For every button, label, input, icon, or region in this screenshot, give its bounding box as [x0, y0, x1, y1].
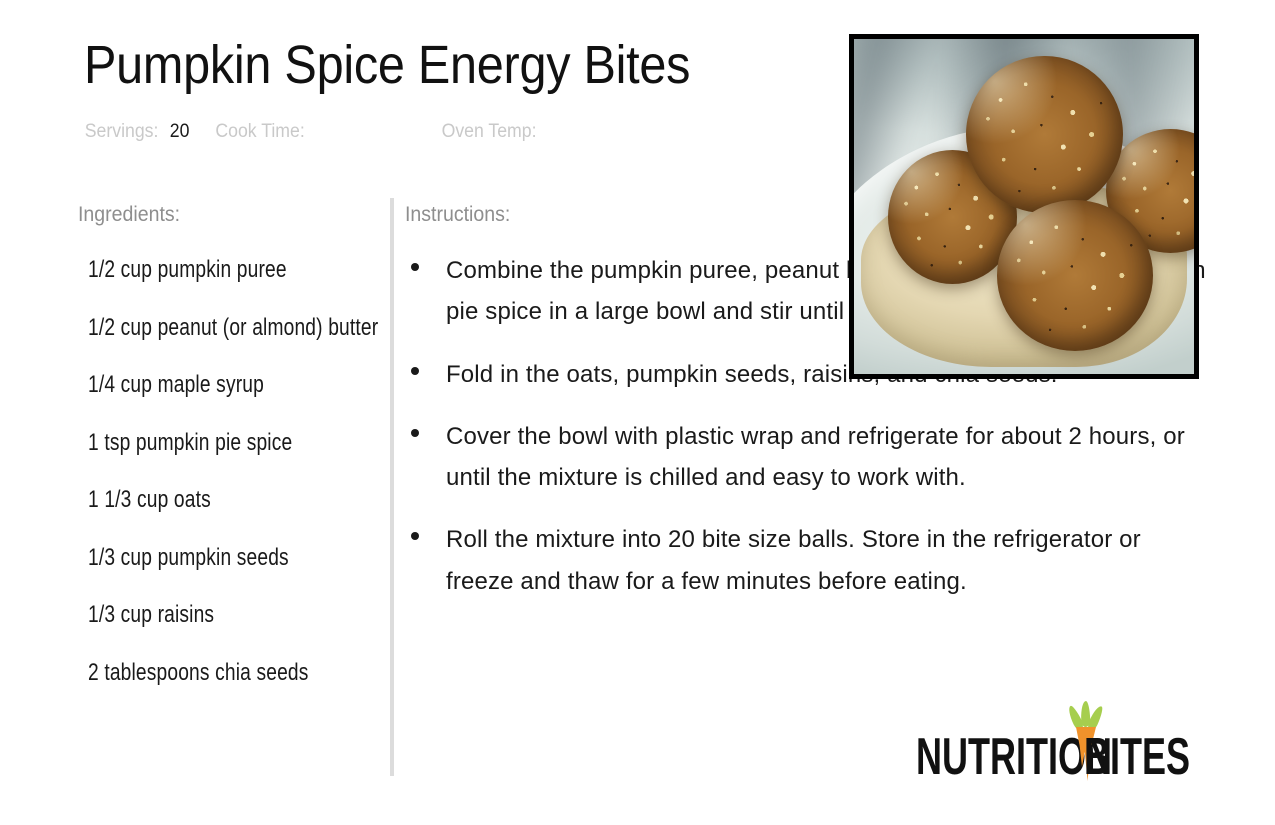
nutrition-bites-logo: NUTRITION BITES [916, 698, 1206, 782]
photo-background [854, 39, 1194, 374]
energy-bite-top [966, 56, 1122, 213]
servings-value: 20 [170, 121, 190, 143]
ingredient-item: 1 tsp pumpkin pie spice [88, 425, 383, 461]
ingredient-item: 1/2 cup pumpkin puree [88, 252, 383, 288]
ingredient-item: 2 tablespoons chia seeds [88, 655, 383, 691]
bullet-icon [411, 429, 419, 437]
servings-group: Servings: 20 [82, 121, 190, 143]
cook-time-label: Cook Time: [216, 121, 305, 143]
ingredient-item: 1/4 cup maple syrup [88, 367, 383, 403]
ingredient-item: 1 1/3 cup oats [88, 482, 383, 518]
ingredient-item: 1/3 cup pumpkin seeds [88, 540, 383, 576]
ingredients-heading: Ingredients: [78, 203, 180, 227]
bullet-icon [411, 532, 419, 540]
oven-temp-group: Oven Temp: [438, 121, 550, 143]
energy-bite-front [997, 200, 1153, 351]
instruction-item: Cover the bowl with plastic wrap and ref… [406, 416, 1206, 499]
servings-label: Servings: [85, 121, 159, 143]
instructions-heading: Instructions: [405, 203, 510, 227]
oven-temp-label: Oven Temp: [442, 121, 537, 143]
recipe-meta-row: Servings: 20 Cook Time: Oven Temp: [82, 121, 551, 147]
instruction-item: Roll the mixture into 20 bite size balls… [406, 519, 1206, 602]
recipe-photo [849, 34, 1199, 379]
bullet-icon [411, 367, 419, 375]
instruction-text: Cover the bowl with plastic wrap and ref… [446, 423, 1185, 491]
ingredient-item: 1/2 cup peanut (or almond) butter [88, 310, 383, 346]
column-divider [390, 198, 394, 776]
ingredients-list: 1/2 cup pumpkin puree1/2 cup peanut (or … [88, 252, 383, 712]
ingredient-item: 1/3 cup raisins [88, 597, 383, 633]
logo-word-bites: BITES [1084, 731, 1190, 783]
cook-time-group: Cook Time: [212, 121, 318, 143]
bullet-icon [411, 263, 419, 271]
page-title: Pumpkin Spice Energy Bites [84, 38, 750, 92]
instruction-text: Roll the mixture into 20 bite size balls… [446, 526, 1141, 594]
